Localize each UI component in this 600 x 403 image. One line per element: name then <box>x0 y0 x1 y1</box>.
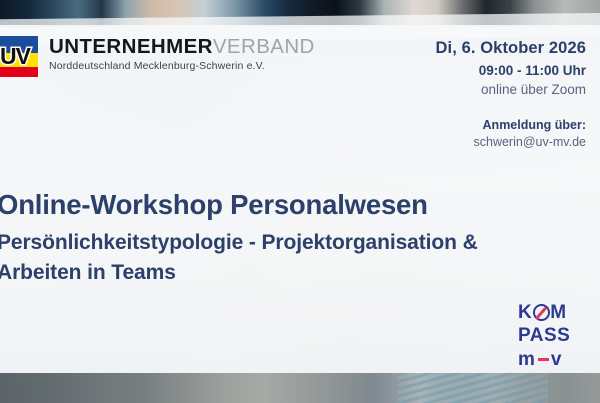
event-date: Di, 6. Oktober 2026 <box>336 38 586 59</box>
kompass-m: M <box>550 303 566 322</box>
brand-subline: Norddeutschland Mecklenburg-Schwerin e.V… <box>49 60 315 73</box>
registration-email[interactable]: schwerin@uv-mv.de <box>336 134 586 151</box>
wordmark-light: VERBAND <box>213 35 315 58</box>
headline-block: Online-Workshop Personalwesen Persönlich… <box>0 188 597 288</box>
kompass-line-2: PASS <box>518 326 580 345</box>
event-banner: UV UNTERNEHMERVERBAND Norddeutschland Me… <box>0 0 600 403</box>
event-subtitle-line-1: Persönlichkeitstypologie - Projektorgani… <box>0 228 597 258</box>
registration-label: Anmeldung über: <box>336 117 586 134</box>
event-info: Di, 6. Oktober 2026 09:00 - 11:00 Uhr on… <box>336 38 586 151</box>
event-subtitle-line-2: Arbeiten in Teams <box>0 258 597 288</box>
event-mode: online über Zoom <box>336 80 586 99</box>
kompass-k: K <box>518 303 532 322</box>
kompass-line-3: m v <box>518 350 580 369</box>
photo-bottom-band <box>0 373 600 403</box>
kompass-mv-v: v <box>551 350 563 369</box>
unternehmerverband-logo-mark: UV <box>0 36 38 77</box>
compass-icon <box>533 304 550 321</box>
event-subtitle: Persönlichkeitstypologie - Projektorgani… <box>0 228 597 288</box>
kompass-line-1: K M <box>518 303 580 322</box>
wordmark-strong: UNTERNEHMER <box>49 35 213 58</box>
logo-initials: UV <box>0 43 38 70</box>
kompass-dash-icon <box>538 358 549 361</box>
kompass-mv-m: m <box>518 350 536 369</box>
wordmark-line: UNTERNEHMERVERBAND <box>49 35 315 58</box>
kompass-mv-logo: K M PASS m v <box>518 303 580 367</box>
event-time: 09:00 - 11:00 Uhr <box>336 61 586 80</box>
event-title: Online-Workshop Personalwesen <box>0 188 597 222</box>
brand-wordmark: UNTERNEHMERVERBAND Norddeutschland Meckl… <box>49 35 315 73</box>
